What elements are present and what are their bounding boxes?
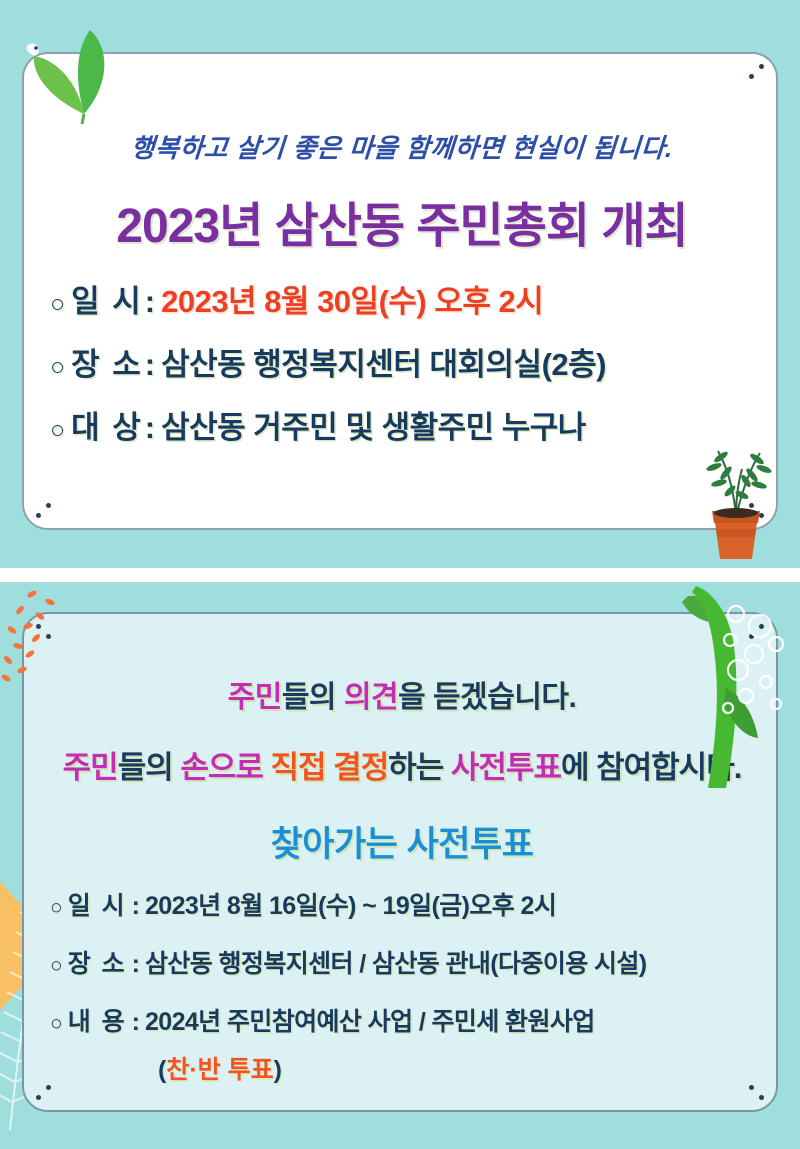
headline-segment: 사전투표 [451,750,561,785]
panel-bottom: 주민들의 의견을 듣겠습니다. 주민들의 손으로 직접 결정하는 사전투표에 참… [0,582,800,1149]
detail-row: ○ 일 시 : 2023년 8월 30일(수) 오후 2시 [50,276,760,321]
screw-dot [46,634,51,639]
headline-segment: 직접 결정 [271,750,389,785]
screw-dot [36,64,41,69]
circle-bullet-icon: ○ [50,954,63,978]
circle-bullet-icon: ○ [50,1012,63,1036]
card-bottom: 주민들의 의견을 듣겠습니다. 주민들의 손으로 직접 결정하는 사전투표에 참… [22,612,778,1112]
row-colon: : [132,950,140,979]
page-title: 2023년 삼산동 주민총회 개최 [24,186,780,256]
headline-segment: 의견 [344,681,398,714]
tagline-text: 행복하고 살기 좋은 마을 함께하면 현실이 됩니다. [23,128,782,165]
headline-segment: 하는 [388,750,451,785]
row-value: 삼산동 거주민 및 생활주민 누구나 [161,402,586,447]
close-paren: ) [274,1056,282,1084]
row-label: 일 시 [71,276,143,321]
row-value: 2023년 8월 30일(수) 오후 2시 [161,276,543,321]
row-label: 일 시 [68,886,127,922]
panel-divider [0,568,800,582]
detail-row: ○ 일 시 : 2023년 8월 16일(수) ~ 19일(금)오후 2시 [50,886,770,922]
detail-row: ○ 장 소 : 삼산동 행정복지센터 대회의실(2층) [50,339,760,384]
panel-top: 행복하고 살기 좋은 마을 함께하면 현실이 됩니다. 2023년 삼산동 주민… [0,0,800,568]
vote-subline: (찬·반 투표) [158,1050,770,1086]
card-top: 행복하고 살기 좋은 마을 함께하면 현실이 됩니다. 2023년 삼산동 주민… [22,52,778,530]
headline-line-3: 찾아가는 사전투표 [24,816,780,867]
detail-row: ○ 장 소 : 삼산동 행정복지센터 / 삼산동 관내(다중이용 시설) [50,944,770,980]
poster-root: 행복하고 살기 좋은 마을 함께하면 현실이 됩니다. 2023년 삼산동 주민… [0,0,800,1149]
headline-segment: 들의 [282,681,344,714]
row-value: 2024년 주민참여예산 사업 / 주민세 환원사업 [145,1002,595,1038]
row-colon: : [145,347,155,383]
row-label: 대 상 [71,402,143,447]
headline-segment: 주민 [63,750,118,785]
circle-bullet-icon: ○ [50,416,65,445]
headline-segment: 주민 [228,681,282,714]
detail-row: ○ 내 용 : 2024년 주민참여예산 사업 / 주민세 환원사업 [50,1002,770,1038]
row-colon: : [145,284,155,320]
screw-dot [749,74,754,79]
headline-segment: 을 듣겠습니다. [398,681,576,714]
circle-bullet-icon: ○ [50,290,65,319]
screw-dot [749,503,754,508]
screw-dot [46,1085,51,1090]
row-label: 내 용 [68,1002,127,1038]
row-colon: : [145,410,155,446]
headline-segment: 들의 [118,750,181,785]
headline-segment: 찾아가는 사전투표 [271,825,534,864]
screw-dot [46,74,51,79]
row-colon: : [132,1008,140,1037]
headline-segment: 에 참여합시다. [561,750,741,785]
screw-dot [749,634,754,639]
row-value: 2023년 8월 16일(수) ~ 19일(금)오후 2시 [145,886,556,922]
screw-dot [46,503,51,508]
detail-rows-top: ○ 일 시 : 2023년 8월 30일(수) 오후 2시 ○ 장 소 : 삼산… [50,276,760,465]
row-label: 장 소 [71,339,143,384]
headline-segment: 손으로 [180,750,270,785]
screw-dot [759,64,764,69]
screw-dot [36,1095,41,1100]
screw-dot [759,1095,764,1100]
screw-dot [749,1085,754,1090]
screw-dot [759,513,764,518]
vote-highlight: 찬·반 투표 [166,1056,273,1084]
screw-dot [36,513,41,518]
screw-dot [36,624,41,629]
row-value: 삼산동 행정복지센터 / 삼산동 관내(다중이용 시설) [145,944,647,980]
circle-bullet-icon: ○ [50,896,63,920]
row-colon: : [132,892,140,921]
row-label: 장 소 [68,944,127,980]
row-value: 삼산동 행정복지센터 대회의실(2층) [161,339,606,384]
headline-line-2: 주민들의 손으로 직접 결정하는 사전투표에 참여합시다. [24,742,780,787]
circle-bullet-icon: ○ [50,353,65,382]
detail-rows-bottom: ○ 일 시 : 2023년 8월 16일(수) ~ 19일(금)오후 2시 ○ … [50,886,770,1086]
screw-dot [759,624,764,629]
detail-row: ○ 대 상 : 삼산동 거주민 및 생활주민 누구나 [50,402,760,447]
headline-line-1: 주민들의 의견을 듣겠습니다. [24,672,780,716]
